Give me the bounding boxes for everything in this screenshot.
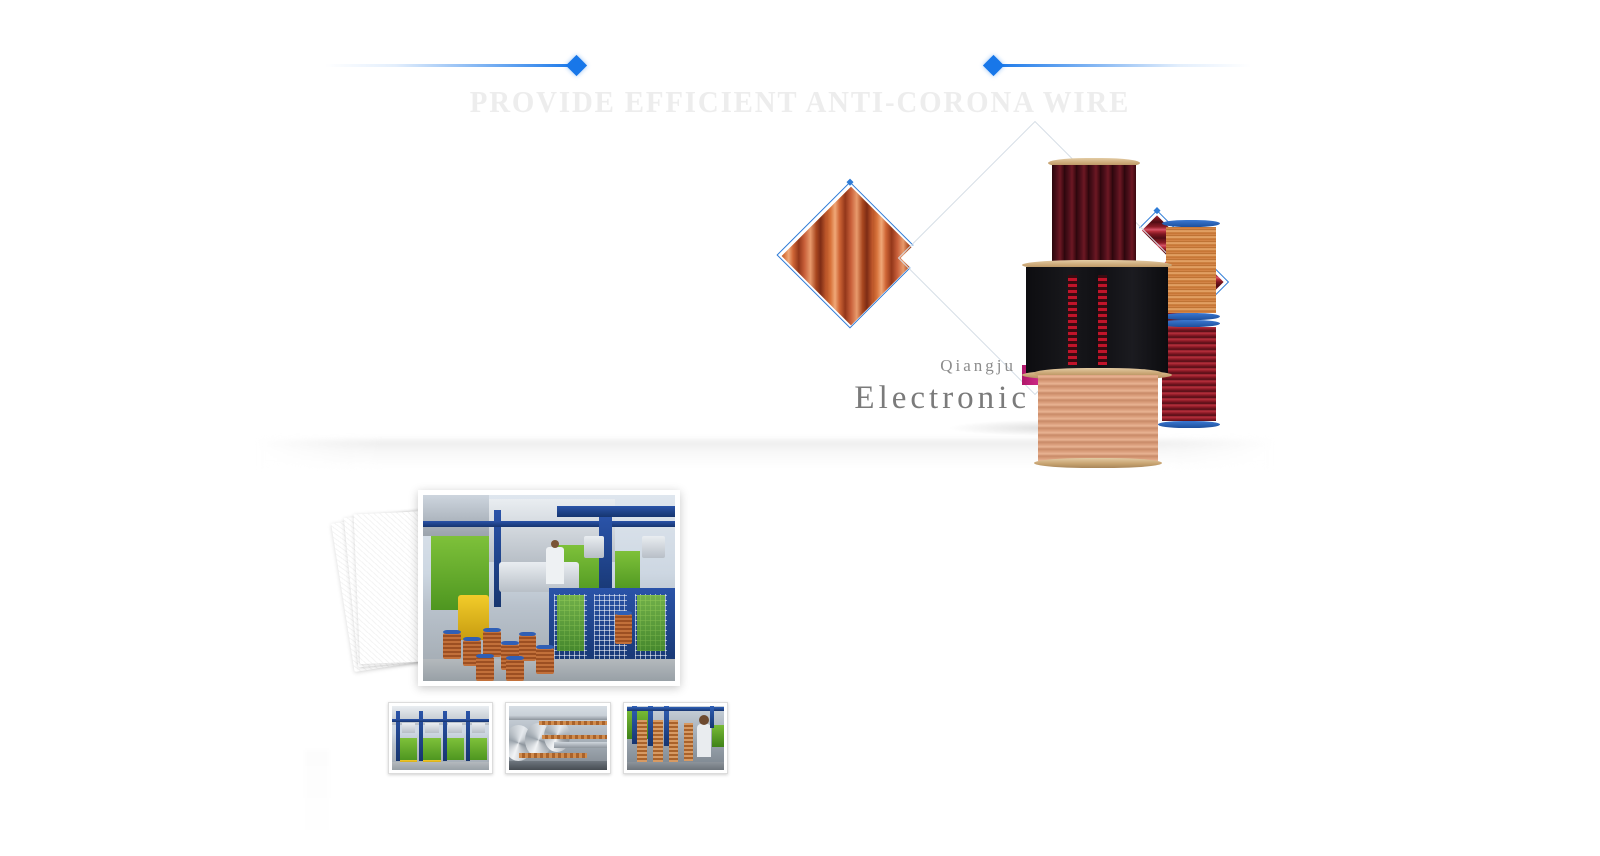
diamond-marker-left-icon bbox=[566, 55, 587, 76]
thumbnail-3-image bbox=[627, 706, 724, 770]
product-main-photo-image bbox=[423, 495, 675, 681]
diamond-marker-right-icon bbox=[983, 55, 1004, 76]
spool-black bbox=[1022, 260, 1172, 380]
rule-line-left bbox=[325, 64, 577, 67]
spool-flange-bottom bbox=[1034, 458, 1162, 468]
spool-copper bbox=[1034, 368, 1162, 468]
rule-line-right bbox=[993, 64, 1251, 67]
factory-scene bbox=[423, 495, 675, 681]
product-main-photo[interactable] bbox=[418, 490, 680, 686]
wire-line-scene bbox=[509, 706, 606, 770]
faint-watermark bbox=[305, 750, 329, 846]
spool-winding bbox=[1052, 165, 1136, 263]
spool-red-band bbox=[1098, 275, 1107, 365]
brand-main-name: Electronic bbox=[780, 380, 1030, 417]
page-title: PROVIDE EFFICIENT ANTI-CORONA WIRE bbox=[56, 84, 1544, 120]
brand-lockup: Qiangju Electronic bbox=[780, 356, 1030, 417]
thumbnail-1-image bbox=[392, 706, 489, 770]
decorative-rule-right bbox=[993, 64, 1251, 67]
spool-winding bbox=[1038, 375, 1158, 461]
thumbnail-1[interactable] bbox=[388, 702, 493, 774]
thumbnail-strip bbox=[388, 702, 728, 774]
spool-winding bbox=[1166, 227, 1216, 313]
hero-banner: PROVIDE EFFICIENT ANTI-CORONA WIRE bbox=[0, 0, 1600, 460]
spool-flange-bottom bbox=[1158, 421, 1220, 428]
thumbnail-2-image bbox=[509, 706, 606, 770]
page-root: PROVIDE EFFICIENT ANTI-CORONA WIRE bbox=[0, 0, 1600, 856]
thumbnail-2[interactable] bbox=[505, 702, 610, 774]
diamond-collage: Qiangju Electronic bbox=[780, 120, 1280, 450]
spool-dark-red bbox=[1048, 158, 1140, 270]
worker-coils-scene bbox=[627, 706, 724, 770]
decorative-rule-left bbox=[325, 64, 577, 67]
brand-sub-name: Qiangju bbox=[780, 356, 1030, 376]
factory-scene bbox=[392, 706, 489, 770]
product-gallery bbox=[360, 488, 740, 798]
spool-flange-top bbox=[1162, 220, 1220, 227]
spool-winding bbox=[1026, 267, 1168, 373]
thumbnail-3[interactable] bbox=[623, 702, 728, 774]
spool-red-band bbox=[1068, 275, 1077, 365]
